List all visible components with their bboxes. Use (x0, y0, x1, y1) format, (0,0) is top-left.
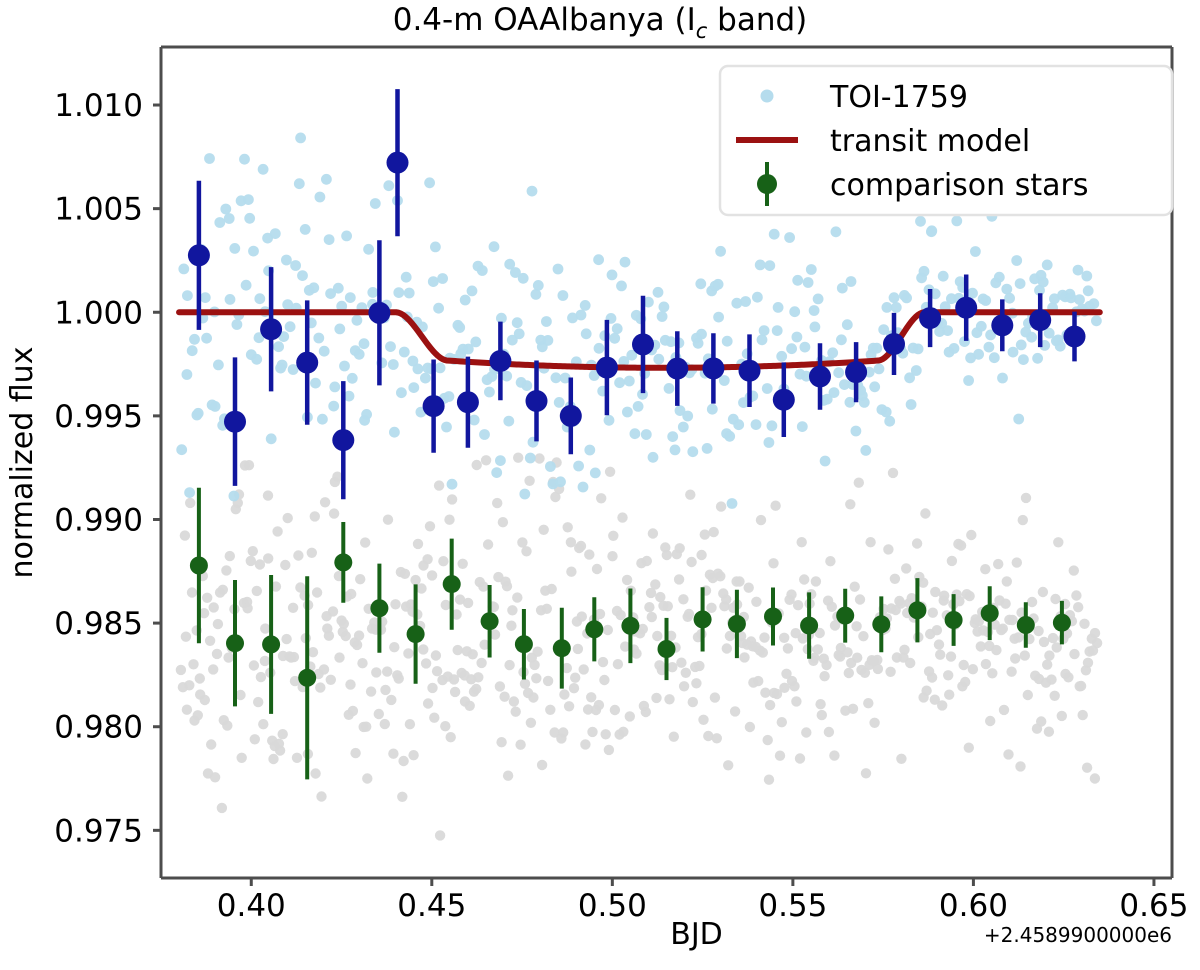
target-raw-point (989, 352, 1000, 363)
comparison-raw-point (403, 648, 413, 658)
target-raw-point (313, 333, 324, 344)
binned-data-point (981, 604, 999, 622)
comparison-raw-point (382, 666, 392, 676)
comparison-raw-point (777, 717, 787, 727)
comparison-raw-point (388, 749, 398, 759)
comparison-raw-point (281, 634, 291, 644)
comparison-raw-point (587, 727, 597, 737)
comparison-raw-point (258, 719, 268, 729)
comparison-raw-point (734, 576, 744, 586)
comparison-raw-point (315, 682, 325, 692)
target-raw-point (757, 334, 768, 345)
comparison-raw-point (1069, 649, 1079, 659)
comparison-raw-point (209, 602, 219, 612)
target-raw-point (715, 246, 726, 257)
x-axis-offset-label: +2.4589900000e6 (984, 923, 1172, 947)
comparison-raw-point (817, 710, 827, 720)
comparison-raw-point (558, 727, 568, 737)
target-raw-point (942, 325, 953, 336)
binned-data-point (368, 302, 390, 324)
target-raw-point (813, 294, 824, 305)
comparison-raw-point (801, 727, 811, 737)
comparison-raw-point (943, 670, 953, 680)
comparison-raw-point (275, 745, 285, 755)
comparison-raw-point (1015, 761, 1025, 771)
comparison-raw-point (744, 583, 754, 593)
comparison-raw-point (775, 751, 785, 761)
comparison-raw-point (380, 685, 390, 695)
target-raw-point (317, 414, 328, 425)
target-raw-point (484, 387, 495, 398)
comparison-raw-point (1002, 576, 1012, 586)
comparison-raw-point (966, 530, 976, 540)
comparison-raw-point (308, 647, 318, 657)
target-raw-point (187, 345, 198, 356)
target-raw-point (630, 428, 641, 439)
target-raw-point (224, 213, 235, 224)
comparison-raw-point (684, 609, 694, 619)
target-raw-point (576, 310, 587, 321)
comparison-raw-point (524, 476, 534, 486)
y-tick-label: 0.975 (54, 813, 143, 849)
binned-data-point (560, 405, 582, 427)
comparison-raw-point (763, 735, 773, 745)
comparison-raw-point (503, 771, 513, 781)
comparison-raw-point (210, 772, 220, 782)
target-raw-point (667, 431, 678, 442)
comparison-raw-point (855, 594, 865, 604)
comparison-raw-point (1048, 633, 1058, 643)
target-raw-point (578, 482, 589, 493)
comparison-raw-point (715, 571, 725, 581)
legend-marker-target-dot (761, 90, 774, 103)
comparison-raw-point (268, 754, 278, 764)
comparison-raw-point (848, 704, 858, 714)
target-raw-point (503, 416, 514, 427)
binned-data-point (809, 366, 831, 388)
y-tick-label: 1.000 (54, 295, 143, 331)
target-raw-point (201, 333, 212, 344)
comparison-raw-point (863, 698, 873, 708)
target-raw-point (413, 364, 424, 375)
comparison-raw-point (797, 537, 807, 547)
comparison-raw-point (987, 668, 997, 678)
comparison-raw-point (386, 695, 396, 705)
comparison-raw-point (212, 649, 222, 659)
comparison-raw-point (537, 760, 547, 770)
target-raw-point (401, 272, 412, 283)
comparison-raw-point (547, 584, 557, 594)
target-raw-point (229, 491, 240, 502)
comparison-raw-point (1003, 749, 1013, 759)
comparison-raw-point (698, 715, 708, 725)
binned-data-point (226, 634, 244, 652)
y-axis-label: normalized flux (5, 347, 40, 579)
comparison-raw-point (819, 671, 829, 681)
target-raw-point (441, 422, 452, 433)
target-raw-point (239, 154, 250, 165)
comparison-raw-point (688, 697, 698, 707)
comparison-raw-point (739, 652, 749, 662)
target-raw-point (1018, 354, 1029, 365)
comparison-raw-point (429, 713, 439, 723)
target-raw-point (367, 287, 378, 298)
target-raw-point (182, 369, 193, 380)
legend-label-2[interactable]: comparison stars (830, 168, 1088, 203)
comparison-raw-point (764, 775, 774, 785)
target-raw-point (514, 328, 525, 339)
target-raw-point (370, 198, 381, 209)
comparison-raw-point (416, 583, 426, 593)
target-raw-point (590, 468, 601, 479)
target-raw-point (682, 411, 693, 422)
comparison-raw-point (312, 587, 322, 597)
comparison-raw-point (930, 587, 940, 597)
comparison-raw-point (932, 625, 942, 635)
target-raw-point (479, 429, 490, 440)
target-raw-point (521, 380, 532, 391)
comparison-raw-point (394, 673, 404, 683)
comparison-raw-point (622, 575, 632, 585)
comparison-raw-point (380, 719, 390, 729)
target-raw-point (702, 443, 713, 454)
comparison-raw-point (225, 551, 235, 561)
comparison-raw-point (383, 515, 393, 525)
comparison-raw-point (825, 556, 835, 566)
target-raw-point (967, 288, 978, 299)
target-raw-point (593, 254, 604, 265)
comparison-raw-point (432, 666, 442, 676)
target-raw-point (428, 276, 439, 287)
binned-data-point (773, 389, 795, 411)
comparison-raw-point (566, 567, 576, 577)
target-raw-point (752, 292, 763, 303)
comparison-raw-point (946, 651, 956, 661)
comparison-raw-point (927, 672, 937, 682)
comparison-raw-point (529, 660, 539, 670)
target-raw-point (525, 453, 536, 464)
comparison-raw-point (1018, 515, 1028, 525)
comparison-raw-point (517, 537, 527, 547)
x-tick-label: 0.45 (397, 888, 466, 924)
legend-label-0[interactable]: TOI-1759 (829, 80, 968, 115)
binned-data-point (190, 557, 208, 575)
binned-data-point (188, 244, 210, 266)
comparison-raw-point (1012, 557, 1022, 567)
target-raw-point (695, 278, 706, 289)
target-raw-point (901, 293, 912, 304)
target-raw-point (994, 272, 1005, 283)
comparison-raw-point (576, 541, 586, 551)
binned-data-point (481, 612, 499, 630)
comparison-raw-point (481, 455, 491, 465)
comparison-raw-point (361, 722, 371, 732)
comparison-raw-point (307, 548, 317, 558)
comparison-raw-point (1023, 690, 1033, 700)
comparison-raw-point (751, 597, 761, 607)
target-raw-point (543, 335, 554, 346)
comparison-raw-point (960, 677, 970, 687)
comparison-raw-point (334, 652, 344, 662)
comparison-raw-point (249, 660, 259, 670)
comparison-raw-point (499, 692, 509, 702)
binned-data-point (332, 429, 354, 451)
binned-data-point (334, 553, 352, 571)
comparison-raw-point (722, 643, 732, 653)
binned-data-point (919, 307, 941, 329)
target-raw-point (433, 303, 444, 314)
target-raw-point (285, 321, 296, 332)
target-raw-point (792, 275, 803, 286)
comparison-raw-point (685, 490, 695, 500)
target-raw-point (664, 383, 675, 394)
comparison-raw-point (993, 559, 1003, 569)
comparison-raw-point (200, 695, 210, 705)
binned-data-point (908, 601, 926, 619)
comparison-raw-point (348, 706, 358, 716)
comparison-raw-point (1046, 674, 1056, 684)
binned-data-point (1053, 614, 1071, 632)
comparison-raw-point (260, 623, 270, 633)
target-raw-point (1032, 353, 1043, 364)
comparison-raw-point (563, 522, 573, 532)
target-raw-point (949, 343, 960, 354)
target-raw-point (733, 419, 744, 430)
comparison-raw-point (1013, 632, 1023, 642)
comparison-raw-point (221, 565, 231, 575)
comparison-raw-point (564, 701, 574, 711)
target-raw-point (769, 229, 780, 240)
comparison-raw-point (827, 602, 837, 612)
comparison-raw-point (759, 632, 769, 642)
comparison-raw-point (850, 582, 860, 592)
comparison-raw-point (595, 609, 605, 619)
target-raw-point (784, 232, 795, 243)
comparison-raw-point (1038, 587, 1048, 597)
comparison-raw-point (899, 645, 909, 655)
comparison-raw-point (193, 710, 203, 720)
target-raw-point (385, 341, 396, 352)
comparison-raw-point (478, 581, 488, 591)
comparison-raw-point (594, 700, 604, 710)
comparison-raw-point (758, 647, 768, 657)
x-tick-label: 0.50 (578, 888, 647, 924)
target-raw-point (906, 399, 917, 410)
target-raw-point (1001, 284, 1012, 295)
target-raw-point (641, 429, 652, 440)
comparison-raw-point (450, 687, 460, 697)
target-raw-point (266, 433, 277, 444)
comparison-raw-point (195, 673, 205, 683)
target-raw-point (420, 373, 431, 384)
binned-data-point (1017, 616, 1035, 634)
target-raw-point (533, 280, 544, 291)
comparison-raw-point (310, 511, 320, 521)
target-raw-point (786, 343, 797, 354)
comparison-raw-point (506, 621, 516, 631)
comparison-raw-point (791, 696, 801, 706)
target-raw-point (244, 213, 255, 224)
target-raw-point (724, 431, 735, 442)
target-raw-point (273, 341, 284, 352)
target-raw-point (984, 342, 995, 353)
comparison-raw-point (434, 480, 444, 490)
binned-data-point (945, 611, 963, 629)
target-raw-point (404, 288, 415, 299)
target-raw-point (1004, 293, 1015, 304)
comparison-raw-point (616, 610, 626, 620)
legend-marker-comparison-dot (757, 174, 777, 194)
y-tick-label: 0.985 (54, 606, 143, 642)
comparison-raw-point (507, 605, 517, 615)
comparison-raw-point (389, 642, 399, 652)
target-raw-point (243, 194, 254, 205)
comparison-raw-point (920, 508, 930, 518)
binned-data-point (526, 390, 548, 412)
comparison-raw-point (669, 732, 679, 742)
comparison-raw-point (217, 803, 227, 813)
comparison-raw-point (844, 668, 854, 678)
target-raw-point (501, 371, 512, 382)
comparison-raw-point (324, 631, 334, 641)
x-tick-label: 0.55 (758, 888, 827, 924)
target-raw-point (352, 315, 363, 326)
target-raw-point (842, 319, 853, 330)
target-raw-point (829, 387, 840, 398)
target-raw-point (214, 217, 225, 228)
comparison-raw-point (427, 683, 437, 693)
comparison-raw-point (647, 612, 657, 622)
comparison-raw-point (821, 660, 831, 670)
comparison-raw-point (648, 528, 658, 538)
comparison-raw-point (845, 499, 855, 509)
target-raw-point (882, 302, 893, 313)
target-raw-point (437, 273, 448, 284)
target-raw-point (659, 302, 670, 313)
target-raw-point (614, 377, 625, 388)
target-raw-point (389, 427, 400, 438)
comparison-raw-point (453, 645, 463, 655)
comparison-raw-point (770, 501, 780, 511)
target-raw-point (846, 276, 857, 287)
binned-data-point (260, 318, 282, 340)
target-raw-point (889, 292, 900, 303)
target-raw-point (696, 329, 707, 340)
comparison-raw-point (912, 538, 922, 548)
target-raw-point (624, 376, 635, 387)
target-raw-point (938, 271, 949, 282)
target-raw-point (558, 290, 569, 301)
comparison-raw-point (584, 549, 594, 559)
target-raw-point (254, 293, 265, 304)
target-raw-point (424, 177, 435, 188)
y-tick-label: 0.995 (54, 399, 143, 435)
comparison-raw-point (521, 546, 531, 556)
comparison-raw-point (605, 467, 615, 477)
target-raw-point (512, 317, 523, 328)
comparison-raw-point (676, 658, 686, 668)
comparison-raw-point (418, 644, 428, 654)
target-raw-point (622, 407, 633, 418)
comparison-raw-point (408, 750, 418, 760)
target-raw-point (1008, 347, 1019, 358)
comparison-raw-point (472, 460, 482, 470)
comparison-raw-point (712, 733, 722, 743)
comparison-raw-point (498, 517, 508, 527)
x-tick-label: 0.65 (1119, 888, 1188, 924)
target-raw-point (334, 324, 345, 335)
comparison-raw-point (579, 664, 589, 674)
comparison-raw-point (512, 592, 522, 602)
comparison-raw-point (1073, 602, 1083, 612)
comparison-raw-point (610, 705, 620, 715)
target-raw-point (803, 277, 814, 288)
target-raw-point (836, 334, 847, 345)
comparison-raw-point (237, 753, 247, 763)
target-raw-point (707, 404, 718, 415)
target-raw-point (1026, 332, 1037, 343)
target-raw-point (845, 397, 856, 408)
legend-label-1[interactable]: transit model (830, 124, 1030, 159)
target-raw-point (1016, 340, 1027, 351)
comparison-raw-point (427, 570, 437, 580)
comparison-raw-point (185, 498, 195, 508)
target-raw-point (489, 241, 500, 252)
target-raw-point (648, 452, 659, 463)
target-raw-point (297, 270, 308, 281)
target-raw-point (204, 153, 215, 164)
comparison-raw-point (341, 631, 351, 641)
comparison-raw-point (935, 650, 945, 660)
legend[interactable]: TOI-1759transit modelcomparison stars (720, 66, 1172, 215)
comparison-raw-point (293, 550, 303, 560)
target-raw-point (315, 192, 326, 203)
target-raw-point (653, 354, 664, 365)
comparison-raw-point (1044, 650, 1054, 660)
target-raw-point (178, 264, 189, 275)
target-raw-point (773, 302, 784, 313)
comparison-raw-point (999, 705, 1009, 715)
comparison-raw-point (496, 737, 506, 747)
comparison-raw-point (468, 649, 478, 659)
comparison-raw-point (678, 594, 688, 604)
target-raw-point (911, 365, 922, 376)
comparison-raw-point (710, 692, 720, 702)
comparison-raw-point (1092, 638, 1102, 648)
target-raw-point (321, 174, 332, 185)
comparison-raw-point (288, 603, 298, 613)
comparison-raw-point (355, 574, 365, 584)
target-raw-point (767, 420, 778, 431)
comparison-raw-point (357, 658, 367, 668)
comparison-raw-point (545, 705, 555, 715)
target-raw-point (454, 322, 465, 333)
comparison-raw-point (674, 574, 684, 584)
target-raw-point (347, 373, 358, 384)
target-raw-point (1088, 298, 1099, 309)
target-raw-point (469, 415, 480, 426)
comparison-raw-point (570, 673, 580, 683)
comparison-raw-point (242, 603, 252, 613)
chart-title: 0.4-m OAAlbanya (Ic band) (393, 2, 808, 43)
comparison-raw-point (1063, 672, 1073, 682)
comparison-raw-point (532, 647, 542, 657)
target-raw-point (612, 323, 623, 334)
target-raw-point (759, 325, 770, 336)
comparison-raw-point (1053, 537, 1063, 547)
comparison-raw-point (1083, 658, 1093, 668)
comparison-raw-point (184, 680, 194, 690)
